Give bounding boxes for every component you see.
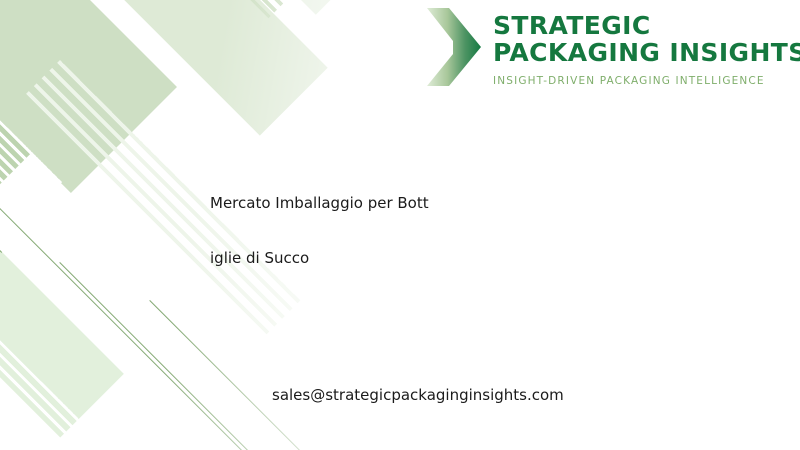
slide-title-line-2: iglie di Succo [210,249,309,267]
presentation-slide: STRATEGIC PACKAGING INSIGHTS INSIGHT-DRI… [0,0,800,450]
artwork-slab [0,300,63,450]
artwork-stripe-band [35,0,353,18]
artwork-stripe-band [0,0,62,232]
contact-email: sales@strategicpackaginginsights.com [272,386,564,404]
artwork-slab [0,190,124,437]
chevron-right-icon [425,6,483,88]
artwork-hairline [59,262,357,450]
brand-name-line-2: PACKAGING INSIGHTS [493,39,800,66]
brand-name-block: STRATEGIC PACKAGING INSIGHTS INSIGHT-DRI… [493,6,800,87]
brand-tagline: INSIGHT-DRIVEN PACKAGING INTELLIGENCE [493,75,800,87]
artwork-hairline [149,300,404,450]
artwork-slab [0,0,328,136]
slide-title-line-1: Mercato Imballaggio per Bott [210,194,429,212]
brand-logo: STRATEGIC PACKAGING INSIGHTS INSIGHT-DRI… [425,6,800,88]
artwork-hairline [0,40,2,253]
brand-name-line-1: STRATEGIC [493,12,800,39]
artwork-stripe-band [0,300,257,450]
artwork-slab [0,0,32,237]
artwork-slab [0,0,365,15]
artwork-slab [0,0,177,193]
